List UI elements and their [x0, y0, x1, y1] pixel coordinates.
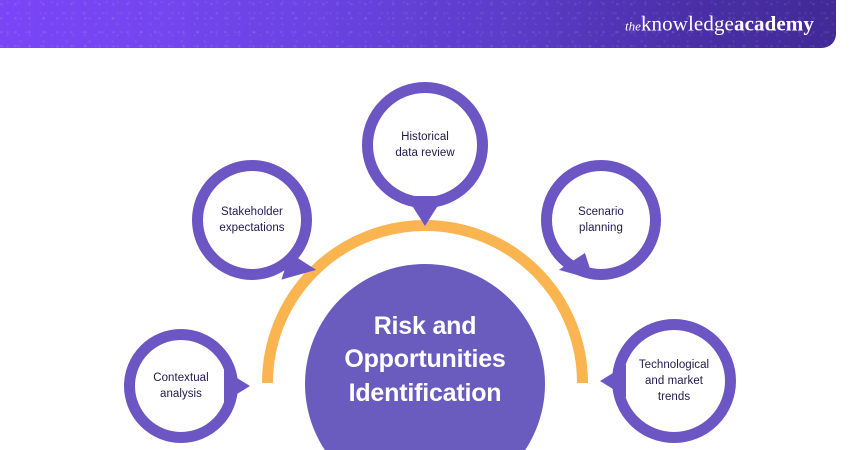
- brand-logo: theknowledgeacademy: [625, 14, 814, 35]
- node-label: Historical data review: [395, 129, 454, 161]
- node-label: Scenario planning: [578, 204, 624, 236]
- node-label: Technological and market trends: [639, 357, 709, 405]
- header-bar: theknowledgeacademy: [0, 0, 836, 48]
- bubble-tail-icon: [406, 196, 444, 226]
- brand-logo-the: the: [625, 19, 641, 34]
- node-contextual-analysis[interactable]: Contextual analysis: [124, 329, 238, 443]
- node-technological-and-market-trends[interactable]: Technological and market trends: [612, 319, 736, 443]
- node-historical-data-review[interactable]: Historical data review: [362, 82, 488, 208]
- infographic-canvas: theknowledgeacademy Risk and Opportuniti…: [0, 0, 850, 450]
- brand-logo-academy: academy: [734, 12, 814, 36]
- center-node-title: Risk and Opportunities Identification: [320, 310, 530, 410]
- center-node: Risk and Opportunities Identification: [305, 264, 545, 450]
- brand-logo-knowledge: knowledge: [641, 12, 734, 36]
- bubble-tail-icon: [281, 253, 318, 289]
- bubble-tail-icon: [224, 370, 250, 402]
- node-stakeholder-expectations[interactable]: Stakeholder expectations: [192, 160, 312, 280]
- node-label: Contextual analysis: [153, 370, 208, 402]
- node-label: Stakeholder expectations: [219, 204, 284, 236]
- bubble-tail-icon: [600, 365, 626, 397]
- node-scenario-planning[interactable]: Scenario planning: [541, 160, 661, 280]
- bubble-tail-icon: [556, 253, 593, 289]
